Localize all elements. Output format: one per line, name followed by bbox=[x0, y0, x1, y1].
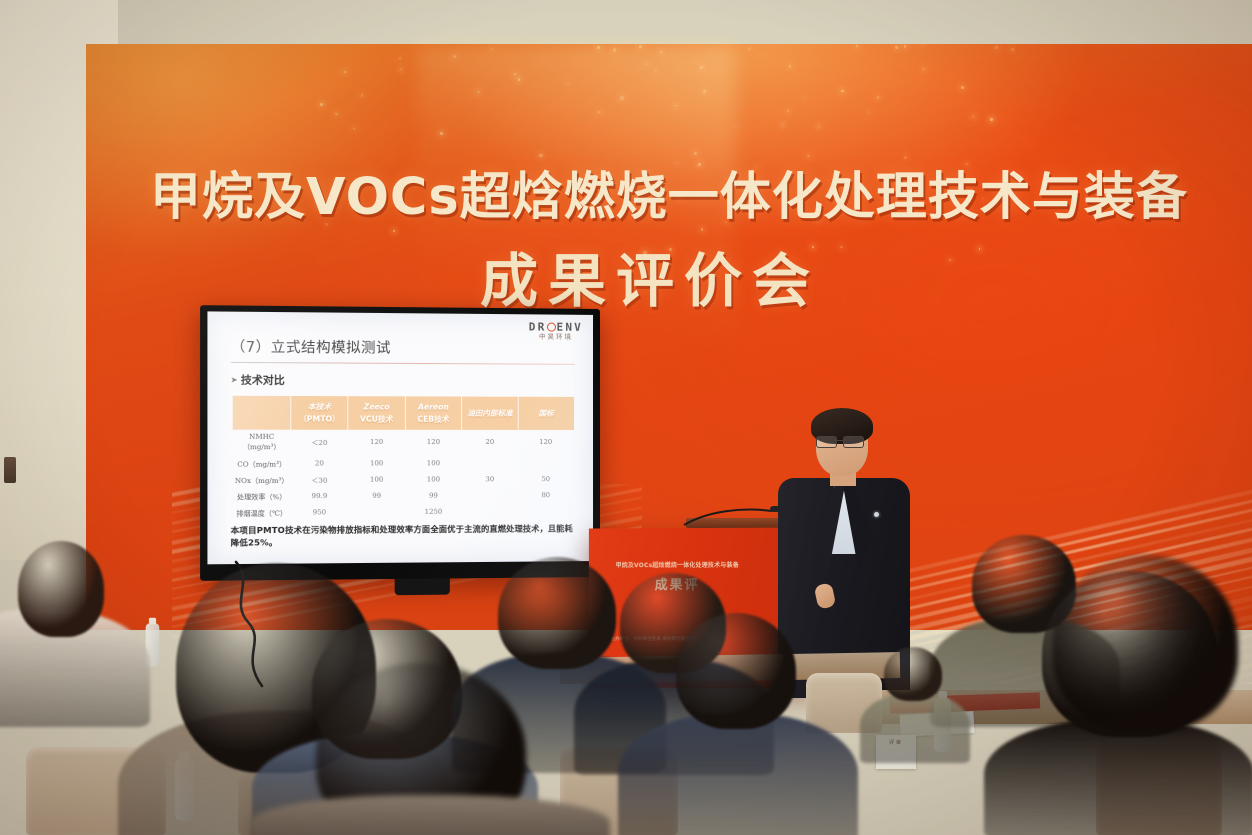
wall-fixture bbox=[4, 457, 16, 483]
audience-shoulders bbox=[860, 693, 970, 763]
comparison-table: 本技术（PMTO）ZeecoVCU技术AereonCEB技术油田内部标准国标 N… bbox=[233, 396, 574, 521]
cell-r4-c0: 950 bbox=[291, 504, 348, 521]
cell-r1-c0: 20 bbox=[291, 455, 348, 472]
name-card-text: 评审 bbox=[876, 739, 916, 746]
speaker-presenter bbox=[772, 408, 922, 698]
water-bottle bbox=[934, 698, 951, 752]
company-logo: DRENV 中昊环境 bbox=[529, 321, 583, 341]
audience-chair bbox=[560, 747, 678, 835]
cell-r3-c3 bbox=[462, 487, 518, 504]
sparkle bbox=[399, 57, 401, 59]
sparkle bbox=[453, 55, 456, 58]
audience-shoulders bbox=[118, 711, 448, 835]
row-label: NOx（mg/m³） bbox=[233, 471, 291, 488]
lectern-title: 甲烷及VOCs超焓燃烧一体化处理技术与装备 bbox=[603, 560, 752, 569]
lectern-subtitle: 成果评 bbox=[603, 574, 752, 593]
sparkle bbox=[518, 78, 520, 80]
sparkle bbox=[782, 124, 783, 125]
cell-r2-c2: 100 bbox=[405, 471, 462, 488]
sparkle bbox=[567, 83, 568, 84]
sparkle bbox=[620, 96, 623, 99]
cell-r3-c1: 99 bbox=[348, 487, 405, 504]
display-screen: DRENV 中昊环境 （7）立式结构模拟测试 ➤ 技术对比 本技术（PMTO）Z… bbox=[207, 311, 593, 564]
audience-table bbox=[880, 690, 1252, 724]
sparkle bbox=[973, 116, 974, 117]
cell-r1-c2: 100 bbox=[405, 455, 462, 471]
cell-r4-c4 bbox=[518, 503, 574, 520]
cell-r2-c1: 100 bbox=[348, 471, 405, 488]
name-card: 评审 bbox=[876, 735, 916, 769]
row-label: 处理效率（%） bbox=[233, 488, 291, 505]
cell-r2-c3: 30 bbox=[462, 471, 518, 487]
sparkle bbox=[335, 113, 338, 116]
sparkle bbox=[748, 47, 751, 50]
comparison-table-body: NMHC（mg/m³）＜2012012020120CO（mg/m³）201001… bbox=[233, 430, 574, 521]
cell-r3-c4: 80 bbox=[518, 487, 574, 503]
sparkle bbox=[660, 51, 662, 53]
cell-r2-c0: ＜30 bbox=[291, 471, 348, 488]
col-header-cn: （PMTO） bbox=[299, 414, 340, 423]
cell-r4-c1 bbox=[348, 504, 405, 521]
audience-chair bbox=[238, 771, 388, 835]
sparkle bbox=[922, 44, 923, 45]
sparkle bbox=[478, 91, 480, 93]
col-header-cn: CEB技术 bbox=[417, 414, 449, 423]
table-col-header-3: AereonCEB技术 bbox=[405, 396, 462, 430]
logo-wordmark: DRENV bbox=[529, 321, 583, 332]
water-bottle bbox=[175, 759, 195, 821]
cell-r4-c2: 1250 bbox=[405, 504, 462, 521]
slide-section-heading: ➤ 技术对比 bbox=[231, 372, 581, 389]
sparkle bbox=[514, 73, 516, 75]
caret-icon: ➤ bbox=[231, 375, 238, 384]
cell-r1-c4 bbox=[518, 454, 574, 470]
sparkle bbox=[645, 63, 647, 65]
sparkle bbox=[703, 90, 706, 93]
audience-shoulders bbox=[930, 617, 1120, 727]
sparkle bbox=[1011, 48, 1013, 50]
logo-text-left: DR bbox=[529, 320, 547, 333]
sparkle bbox=[639, 45, 642, 48]
cell-r0-c4: 120 bbox=[518, 430, 574, 454]
banner-title: 甲烷及VOCs超焓燃烧一体化处理技术与装备 bbox=[150, 155, 1150, 229]
sparkle bbox=[440, 132, 443, 135]
slide-content: DRENV 中昊环境 （7）立式结构模拟测试 ➤ 技术对比 本技术（PMTO）Z… bbox=[207, 311, 593, 564]
table-col-header-2: ZeecoVCU技术 bbox=[348, 396, 405, 430]
sparkle bbox=[613, 48, 616, 51]
logo-text-right: ENV bbox=[557, 321, 584, 334]
presentation-display[interactable]: DRENV 中昊环境 （7）立式结构模拟测试 ➤ 技术对比 本技术（PMTO）Z… bbox=[200, 305, 600, 581]
speaker-lapel-pin bbox=[874, 512, 879, 517]
sparkle bbox=[841, 90, 843, 92]
sparkle bbox=[904, 45, 907, 48]
table-col-header-1: 本技术（PMTO） bbox=[291, 396, 348, 430]
audience-chair bbox=[1096, 741, 1222, 835]
sparkle bbox=[320, 103, 323, 106]
col-header-en: 国标 bbox=[519, 408, 572, 420]
sparkle bbox=[353, 128, 354, 129]
sparkle bbox=[597, 46, 600, 49]
row-label: 排烟温度（℃） bbox=[233, 504, 291, 521]
audience-head-foreground bbox=[316, 663, 526, 835]
table-row: 处理效率（%）99.9999980 bbox=[233, 487, 574, 505]
sparkle bbox=[856, 45, 858, 47]
sparkle bbox=[393, 230, 395, 232]
sparkle bbox=[787, 110, 789, 112]
comparison-table-head: 本技术（PMTO）ZeecoVCU技术AereonCEB技术油田内部标准国标 bbox=[233, 396, 574, 430]
sparkle bbox=[990, 118, 992, 120]
sparkle bbox=[344, 71, 346, 73]
table-row: 排烟温度（℃）9501250 bbox=[233, 503, 574, 521]
row-label: CO（mg/m³） bbox=[233, 455, 291, 472]
audience-shoulders bbox=[618, 713, 858, 835]
col-header-cn: VCU技术 bbox=[360, 414, 393, 423]
sparkle bbox=[598, 111, 600, 113]
sparkle bbox=[654, 69, 657, 72]
cell-r1-c1: 100 bbox=[348, 455, 405, 472]
cell-r3-c2: 99 bbox=[405, 487, 462, 504]
sparkle bbox=[995, 46, 998, 49]
sparkle bbox=[400, 69, 401, 70]
table-col-header-4: 油田内部标准 bbox=[462, 397, 518, 431]
papers bbox=[899, 711, 974, 737]
conference-photo-scene: 甲烷及VOCs超焓燃烧一体化处理技术与装备 成果评价会 有限公司、松山湖材料实验… bbox=[0, 0, 1252, 835]
sparkle bbox=[961, 86, 964, 89]
cell-r0-c1: 120 bbox=[348, 430, 405, 455]
cell-r2-c4: 50 bbox=[518, 471, 574, 487]
cell-r0-c2: 120 bbox=[405, 430, 462, 455]
audience-shoulders bbox=[252, 733, 538, 835]
sparkle bbox=[877, 96, 879, 98]
sparkle bbox=[735, 126, 736, 127]
cell-r0-c0: ＜20 bbox=[291, 430, 348, 455]
audience-head bbox=[312, 619, 462, 759]
ring-icon bbox=[547, 323, 556, 332]
sparkle bbox=[803, 97, 804, 98]
table-col-header-0 bbox=[233, 396, 291, 430]
audience-shoulders-foreground bbox=[250, 795, 610, 835]
audience-chair bbox=[26, 747, 166, 835]
cell-r0-c3: 20 bbox=[462, 430, 518, 454]
sparkle bbox=[789, 65, 792, 68]
audience-shoulders bbox=[984, 719, 1252, 835]
row-label: NMHC（mg/m³） bbox=[233, 430, 291, 455]
cell-r3-c0: 99.9 bbox=[291, 488, 348, 505]
col-header-en: 油田内部标准 bbox=[463, 407, 516, 419]
col-header-en: Aereon bbox=[407, 401, 460, 413]
sparkle bbox=[868, 111, 870, 113]
table-row: CO（mg/m³）20100100 bbox=[233, 454, 574, 471]
col-header-en: 本技术 bbox=[292, 401, 346, 413]
slide-title-rule bbox=[231, 362, 575, 365]
cell-r4-c3 bbox=[462, 503, 518, 520]
display-stand bbox=[395, 578, 450, 595]
section-heading-label: 技术对比 bbox=[241, 372, 285, 388]
sparkle bbox=[895, 46, 898, 49]
table-header-row: 本技术（PMTO）ZeecoVCU技术AereonCEB技术油田内部标准国标 bbox=[233, 396, 574, 430]
sparkle bbox=[818, 126, 819, 127]
sparkle bbox=[361, 94, 363, 96]
sparkle bbox=[675, 105, 676, 106]
col-header-en: Zeeco bbox=[350, 401, 404, 413]
logo-subtext: 中昊环境 bbox=[529, 334, 583, 341]
table-row: NMHC（mg/m³）＜2012012020120 bbox=[233, 430, 574, 455]
lectern-org-text: 主办单位、协办单位名录 承办单位联合发布 bbox=[611, 636, 730, 644]
sparkle bbox=[491, 48, 493, 50]
cell-r1-c3 bbox=[462, 455, 518, 471]
sparkle bbox=[700, 66, 703, 69]
table-row: NOx（mg/m³）＜301001003050 bbox=[233, 471, 574, 488]
sparkle bbox=[923, 68, 925, 70]
eyeglasses-icon bbox=[816, 436, 864, 446]
slide-note: 本项目PMTO技术在污染物排放指标和处理效率方面全面优于主流的直燃处理技术，且能… bbox=[231, 522, 581, 549]
table-col-header-5: 国标 bbox=[518, 397, 574, 430]
